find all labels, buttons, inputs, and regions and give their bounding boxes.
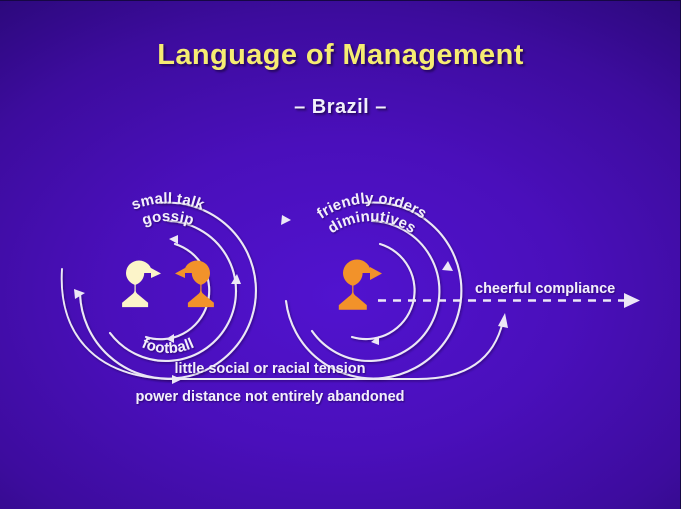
caption-lower: power distance not entirely abandoned bbox=[135, 389, 404, 405]
compliance-arrowhead bbox=[624, 293, 640, 308]
right-outer-ring-arrowhead bbox=[281, 215, 291, 225]
right-diagram-rings bbox=[281, 202, 461, 378]
left-inner-ring-arrowhead bbox=[169, 235, 178, 244]
left-figure-cream bbox=[122, 261, 161, 308]
left-middle-ring-arrowhead bbox=[231, 274, 241, 284]
left-inner-ring bbox=[146, 244, 209, 339]
caption-upper: little social or racial tension bbox=[175, 361, 366, 377]
right-middle-ring-arrowhead bbox=[442, 261, 453, 271]
cheerful-compliance-flow: cheerful compliance bbox=[378, 281, 640, 308]
compliance-label: cheerful compliance bbox=[475, 281, 615, 297]
right-figure-orange bbox=[339, 260, 382, 310]
right-outer-ring bbox=[286, 202, 461, 378]
enclosing-arc-arrowhead bbox=[498, 313, 508, 328]
right-inner-ring bbox=[352, 244, 415, 339]
bottom-arc-group: little social or racial tension power di… bbox=[62, 269, 508, 405]
left-ring-label-middle: gossip bbox=[140, 208, 196, 229]
slide-canvas: Language of Management – Brazil – bbox=[0, 0, 681, 509]
culture-diagram: small talk gossip football friendly orde… bbox=[0, 1, 681, 509]
